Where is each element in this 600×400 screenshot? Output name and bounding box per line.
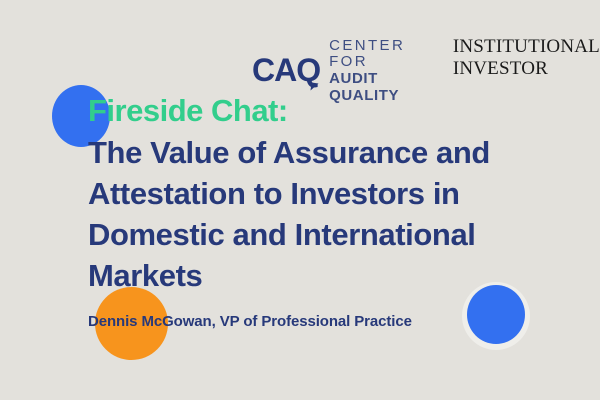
presentation-slide: CAQ CENTER FOR AUDIT QUALITY INSTITUTION… — [0, 0, 600, 400]
caq-logo: CAQ CENTER FOR AUDIT QUALITY — [252, 36, 437, 104]
caq-wordmark-text: CAQ — [252, 54, 320, 86]
page-title: The Value of Assurance and Attestation t… — [88, 132, 588, 296]
caq-tagline-line1: CENTER FOR — [329, 38, 437, 70]
institutional-investor-line1: INSTITUTIONAL — [453, 37, 600, 56]
logo-bar: CAQ CENTER FOR AUDIT QUALITY INSTITUTION… — [252, 36, 600, 104]
institutional-investor-logo: INSTITUTIONAL INVESTOR — [453, 36, 600, 78]
institutional-investor-line2: INVESTOR — [453, 59, 600, 78]
caq-wordmark-label: CAQ — [252, 52, 320, 88]
caq-tagline-line2: AUDIT QUALITY — [329, 70, 437, 104]
speaker-name-and-role: Dennis McGowan, VP of Professional Pract… — [88, 313, 412, 331]
speech-bubble-tail-icon — [311, 83, 319, 92]
headline-block: Fireside Chat: The Value of Assurance an… — [88, 92, 588, 296]
caq-tagline: CENTER FOR AUDIT QUALITY — [329, 36, 437, 104]
